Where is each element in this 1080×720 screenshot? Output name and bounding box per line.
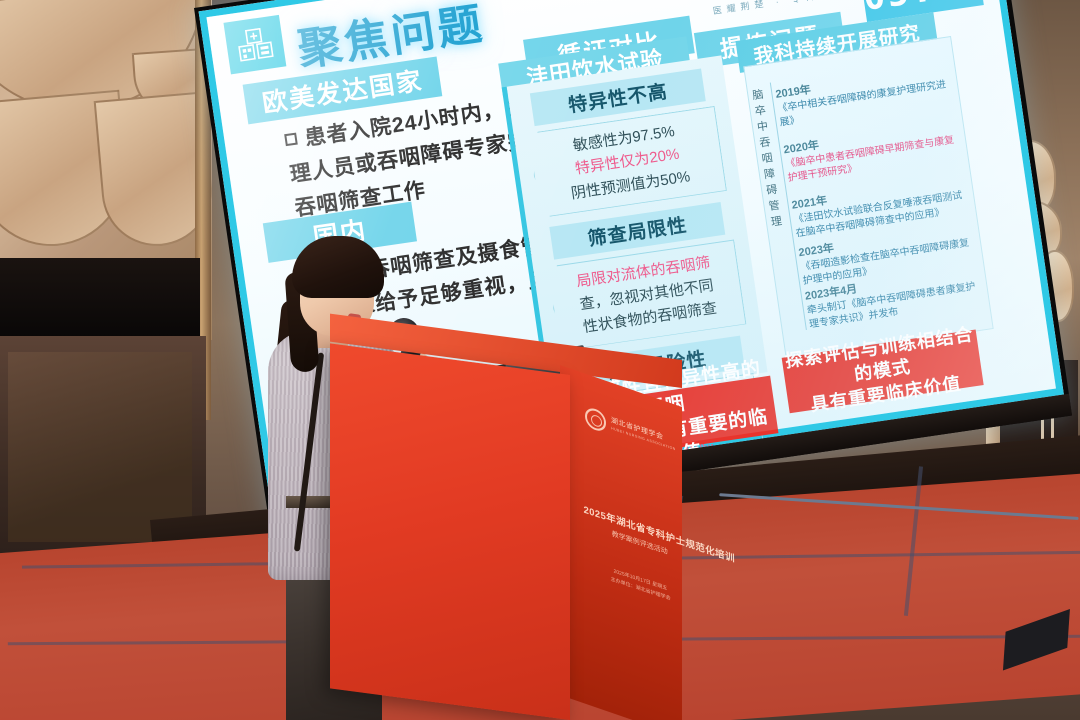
hospital-icon-svg	[236, 26, 274, 63]
wall-pane	[8, 352, 192, 542]
seal-icon	[585, 405, 606, 433]
podium-front-panel	[330, 343, 570, 720]
floor-cable	[719, 493, 1078, 520]
conference-scene: 聚焦问题 欧美发达国家 循证对比 提炼问题 国内 我科 患者入院24小时内，由护…	[0, 0, 1080, 720]
wall-recess	[0, 258, 200, 338]
speaker-hair	[292, 236, 384, 298]
hospital-icon	[223, 15, 286, 75]
floor-seam	[904, 466, 923, 616]
checkbox-square-icon	[284, 133, 298, 147]
